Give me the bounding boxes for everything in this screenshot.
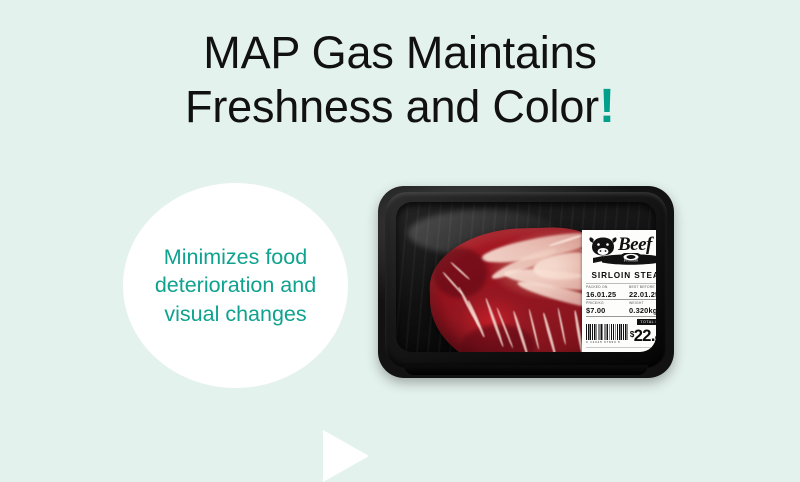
headline-line-1: MAP Gas Maintains bbox=[0, 26, 800, 79]
label-field-best-before: BEST BEFORE 22.01.25 bbox=[629, 286, 656, 300]
label-bottom-row: 0 12345 67890 5 TOTAL PRICE $22.40 bbox=[586, 310, 656, 345]
slide-canvas: MAP Gas Maintains Freshness and Color! M… bbox=[0, 0, 800, 450]
bubble-tail-icon bbox=[323, 430, 369, 482]
field-value: 22.01.25 bbox=[629, 290, 656, 301]
label-date-row: PACKED ON 16.01.25 BEST BEFORE 22.01.25 bbox=[586, 286, 656, 300]
total-price-block: TOTAL PRICE $22.40 bbox=[630, 310, 656, 345]
headline-line-2-wrap: Freshness and Color! bbox=[0, 79, 800, 136]
tray-foot bbox=[404, 365, 648, 375]
exclamation-accent: ! bbox=[599, 80, 615, 133]
tray-outer: Beef Premium SIRLOIN STEAK bbox=[378, 186, 674, 378]
barcode-icon bbox=[586, 324, 628, 340]
price-label: Beef Premium SIRLOIN STEAK bbox=[582, 230, 656, 352]
premium-banner-icon: Premium bbox=[592, 253, 656, 268]
total-price-caption: TOTAL PRICE bbox=[637, 319, 656, 325]
label-field-packed: PACKED ON 16.01.25 bbox=[586, 286, 629, 300]
field-value: 16.01.25 bbox=[586, 290, 629, 301]
tray-well: Beef Premium SIRLOIN STEAK bbox=[396, 202, 656, 352]
price-number: 22.40 bbox=[634, 327, 656, 345]
scale-brand-logo: DIGI bbox=[586, 351, 602, 353]
label-divider bbox=[586, 283, 656, 284]
bubble-body: Minimizes food deterioration and visual … bbox=[123, 183, 348, 388]
total-price-value: $22.40 bbox=[630, 328, 656, 345]
label-product-name: SIRLOIN STEAK bbox=[586, 271, 656, 280]
product-package: Beef Premium SIRLOIN STEAK bbox=[378, 186, 674, 378]
svg-text:Premium: Premium bbox=[623, 258, 639, 263]
label-footer: DIGI DIGI SUPERMARKET 15-18-12 Nikkaido … bbox=[586, 347, 656, 353]
page-title: MAP Gas Maintains Freshness and Color! bbox=[0, 26, 800, 136]
barcode-digits: 0 12345 67890 5 bbox=[586, 340, 628, 344]
callout-text: Minimizes food deterioration and visual … bbox=[138, 243, 334, 328]
label-brand-block: Beef Premium bbox=[586, 233, 656, 270]
barcode-block: 0 12345 67890 5 bbox=[586, 324, 628, 345]
headline-line-2: Freshness and Color bbox=[185, 81, 599, 132]
callout-bubble: Minimizes food deterioration and visual … bbox=[123, 175, 373, 391]
